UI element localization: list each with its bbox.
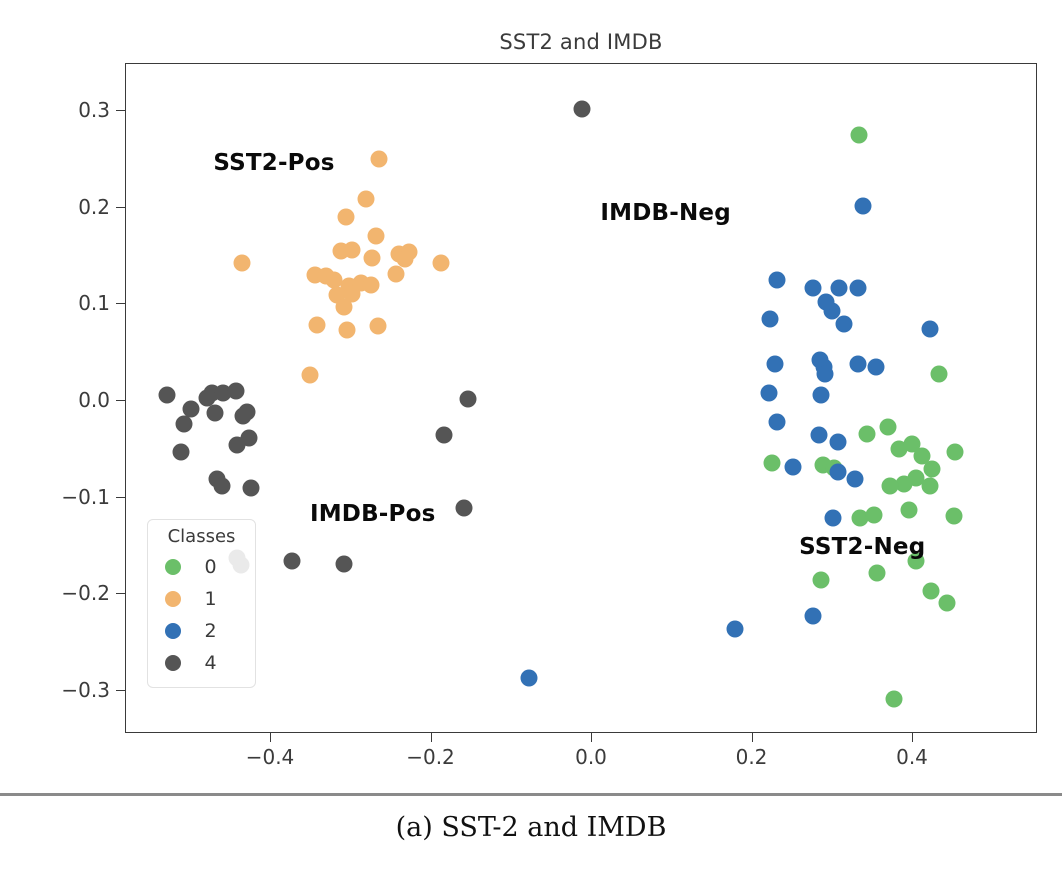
scatter-point-class-0 <box>880 419 897 436</box>
scatter-point-class-2 <box>804 279 821 296</box>
x-tick-mark <box>912 733 913 742</box>
scatter-point-class-4 <box>574 100 591 117</box>
scatter-point-class-0 <box>921 478 938 495</box>
cluster-label-imdb-pos: IMDB-Pos <box>310 501 436 527</box>
scatter-point-class-0 <box>868 565 885 582</box>
scatter-point-class-0 <box>812 571 829 588</box>
legend-swatch-icon <box>165 655 181 671</box>
scatter-point-class-4 <box>455 500 472 517</box>
scatter-point-class-0 <box>896 476 913 493</box>
scatter-point-class-2 <box>762 310 779 327</box>
scatter-point-class-1 <box>234 254 251 271</box>
y-tick-mark <box>116 400 125 401</box>
scatter-point-class-1 <box>388 266 405 283</box>
scatter-point-class-0 <box>924 460 941 477</box>
x-tick-label: 0.2 <box>736 745 768 769</box>
figure-caption: (a) SST-2 and IMDB <box>0 812 1062 843</box>
scatter-point-class-4 <box>173 444 190 461</box>
legend-item[interactable]: 4 <box>157 647 246 679</box>
scatter-point-class-1 <box>336 299 353 316</box>
scatter-point-class-1 <box>339 322 356 339</box>
scatter-point-class-2 <box>768 272 785 289</box>
y-tick-label: 0.3 <box>48 98 110 122</box>
scatter-point-class-1 <box>433 254 450 271</box>
x-tick-mark <box>752 733 753 742</box>
scatter-point-class-4 <box>229 437 246 454</box>
cluster-label-imdb-neg: IMDB-Neg <box>600 200 731 226</box>
scatter-point-class-1 <box>301 366 318 383</box>
scatter-point-class-0 <box>938 595 955 612</box>
figure-panel: SST2 and IMDB −0.4−0.20.00.20.40.30.20.1… <box>0 0 1062 870</box>
y-tick-mark <box>116 593 125 594</box>
y-tick-label: −0.2 <box>48 581 110 605</box>
scatter-point-class-4 <box>159 387 176 404</box>
x-tick-label: 0.4 <box>896 745 928 769</box>
scatter-point-class-0 <box>885 690 902 707</box>
scatter-point-class-2 <box>784 458 801 475</box>
scatter-point-class-1 <box>397 250 414 267</box>
scatter-point-class-0 <box>900 502 917 519</box>
legend-item-label: 2 <box>181 620 246 642</box>
scatter-point-class-2 <box>868 359 885 376</box>
scatter-point-class-0 <box>866 507 883 524</box>
legend-rows: 0124 <box>157 551 246 679</box>
legend-item[interactable]: 0 <box>157 551 246 583</box>
scatter-point-class-0 <box>763 454 780 471</box>
x-tick-label: −0.2 <box>406 745 455 769</box>
y-tick-mark <box>116 497 125 498</box>
x-tick-mark <box>431 733 432 742</box>
scatter-point-class-4 <box>336 556 353 573</box>
scatter-point-class-1 <box>364 249 381 266</box>
scatter-point-class-2 <box>921 321 938 338</box>
scatter-point-class-0 <box>851 127 868 144</box>
legend-swatch-icon <box>165 559 181 575</box>
scatter-point-class-1 <box>369 317 386 334</box>
cluster-label-sst2-neg: SST2-Neg <box>799 534 925 560</box>
x-tick-label: −0.4 <box>246 745 295 769</box>
scatter-point-class-2 <box>855 197 872 214</box>
scatter-point-class-0 <box>859 425 876 442</box>
scatter-point-class-4 <box>182 400 199 417</box>
scatter-point-class-4 <box>206 404 223 421</box>
legend-swatch-icon <box>165 591 181 607</box>
scatter-point-class-2 <box>849 356 866 373</box>
cluster-label-sst2-pos: SST2-Pos <box>213 150 334 176</box>
y-tick-label: −0.3 <box>48 678 110 702</box>
scatter-point-class-2 <box>849 279 866 296</box>
y-tick-label: 0.2 <box>48 195 110 219</box>
scatter-point-class-1 <box>338 209 355 226</box>
legend-item-label: 1 <box>181 588 246 610</box>
legend-item-label: 4 <box>181 652 246 674</box>
scatter-point-class-2 <box>835 315 852 332</box>
scatter-point-class-1 <box>308 316 325 333</box>
scatter-point-class-0 <box>923 582 940 599</box>
scatter-point-class-1 <box>363 276 380 293</box>
scatter-point-class-4 <box>176 416 193 433</box>
scatter-point-class-0 <box>946 444 963 461</box>
legend-item[interactable]: 2 <box>157 615 246 647</box>
scatter-point-class-2 <box>812 387 829 404</box>
scatter-point-class-0 <box>945 508 962 525</box>
x-tick-mark <box>270 733 271 742</box>
scatter-point-class-2 <box>811 426 828 443</box>
scatter-point-class-1 <box>368 227 385 244</box>
scatter-point-class-2 <box>824 510 841 527</box>
scatter-point-class-2 <box>817 294 834 311</box>
scatter-point-class-2 <box>761 385 778 402</box>
x-tick-label: 0.0 <box>575 745 607 769</box>
x-tick-mark <box>591 733 592 742</box>
scatter-point-class-0 <box>881 478 898 495</box>
scatter-point-class-2 <box>831 279 848 296</box>
y-tick-mark <box>116 690 125 691</box>
scatter-point-class-2 <box>829 433 846 450</box>
scatter-point-class-2 <box>816 365 833 382</box>
scatter-point-class-4 <box>228 383 245 400</box>
scatter-point-class-4 <box>283 552 300 569</box>
legend-item[interactable]: 1 <box>157 583 246 615</box>
legend-title: Classes <box>157 526 246 547</box>
scatter-point-class-2 <box>521 669 538 686</box>
scatter-point-class-2 <box>804 607 821 624</box>
scatter-point-class-4 <box>214 478 231 495</box>
figure-divider-rule <box>0 793 1062 796</box>
y-tick-mark <box>116 303 125 304</box>
chart-title: SST2 and IMDB <box>125 30 1037 54</box>
scatter-point-class-0 <box>930 365 947 382</box>
y-tick-label: 0.1 <box>48 291 110 315</box>
scatter-point-class-1 <box>370 151 387 168</box>
legend[interactable]: Classes 0124 <box>147 519 256 688</box>
scatter-point-class-1 <box>344 242 361 259</box>
scatter-point-class-2 <box>847 471 864 488</box>
scatter-point-class-2 <box>766 356 783 373</box>
scatter-point-class-2 <box>830 463 847 480</box>
legend-swatch-icon <box>165 623 181 639</box>
y-tick-label: 0.0 <box>48 388 110 412</box>
scatter-point-class-4 <box>435 426 452 443</box>
scatter-point-class-4 <box>234 408 251 425</box>
y-tick-label: −0.1 <box>48 485 110 509</box>
scatter-point-class-4 <box>242 480 259 497</box>
scatter-point-class-2 <box>726 621 743 638</box>
y-tick-mark <box>116 207 125 208</box>
y-tick-mark <box>116 110 125 111</box>
scatter-point-class-1 <box>358 190 375 207</box>
legend-item-label: 0 <box>181 556 246 578</box>
scatter-point-class-4 <box>459 391 476 408</box>
scatter-point-class-2 <box>769 414 786 431</box>
